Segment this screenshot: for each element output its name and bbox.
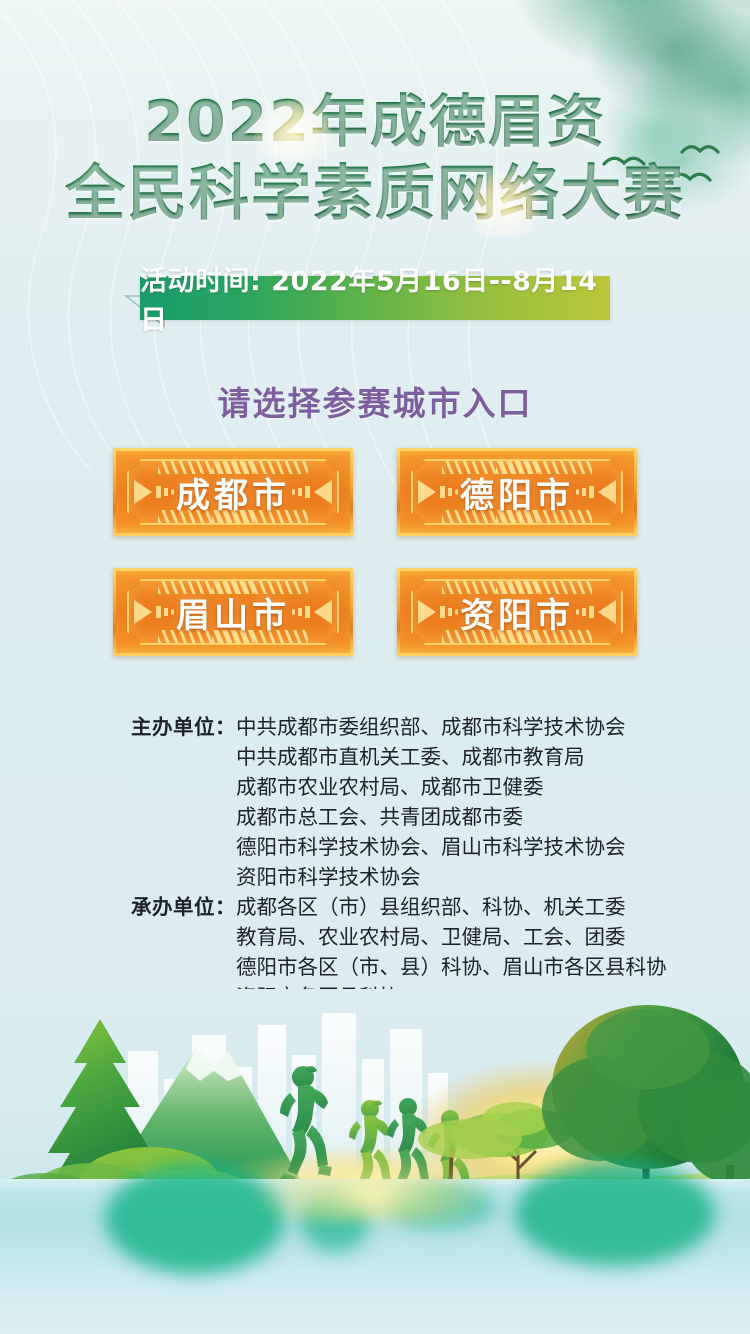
city-button-ziyang[interactable]: 资阳市 — [397, 568, 637, 656]
title-line-2: 全民科学素质网络大赛 — [0, 160, 750, 228]
poster-root: 2022年成德眉资 全民科学素质网络大赛 活动时间: 2022年5月16日--8… — [0, 0, 750, 1334]
city-entry-button-grid: 成都市 德阳市 — [113, 448, 637, 656]
credit-lines: 中共成都市委组织部、成都市科学技术协会 中共成都市直机关工委、成都市教育局 成都… — [236, 712, 671, 892]
credit-line: 成都市农业农村局、成都市卫健委 — [236, 772, 671, 802]
credit-line: 教育局、农业农村局、卫健局、工会、团委 — [236, 922, 671, 952]
event-date-banner: 活动时间: 2022年5月16日--8月14日 — [140, 276, 610, 320]
credit-line: 中共成都市委组织部、成都市科学技术协会 — [236, 712, 671, 742]
water-reflection-broadtree — [515, 1161, 715, 1266]
credit-line: 德阳市各区（市、县）科协、眉山市各区县科协 — [236, 952, 671, 982]
city-button-label: 眉山市 — [116, 571, 350, 653]
credit-line: 资阳市科学技术协会 — [236, 862, 671, 892]
city-button-deyang[interactable]: 德阳市 — [397, 448, 637, 536]
credit-line: 德阳市科学技术协会、眉山市科学技术协会 — [236, 832, 671, 862]
date-banner-row: 活动时间: 2022年5月16日--8月14日 — [0, 272, 750, 328]
city-button-label: 成都市 — [116, 451, 350, 533]
credit-line: 成都市总工会、共青团成都市委 — [236, 802, 671, 832]
event-date-text: 活动时间: 2022年5月16日--8月14日 — [140, 259, 610, 337]
credit-label: 承办单位： — [131, 892, 236, 922]
title-line-1: 2022年成德眉资 — [0, 88, 750, 156]
city-select-prompt: 请选择参赛城市入口 — [0, 377, 750, 425]
bottom-landscape-illustration — [0, 989, 750, 1334]
water-sun-reflection — [255, 1152, 485, 1222]
poster-title: 2022年成德眉资 全民科学素质网络大赛 — [0, 88, 750, 228]
credit-line: 成都各区（市）县组织部、科协、机关工委 — [236, 892, 671, 922]
credit-label: 主办单位： — [131, 712, 236, 742]
city-button-meishan[interactable]: 眉山市 — [113, 568, 353, 656]
credit-group-organizers: 主办单位： 中共成都市委组织部、成都市科学技术协会 中共成都市直机关工委、成都市… — [131, 712, 671, 892]
city-button-label: 资阳市 — [400, 571, 634, 653]
city-button-label: 德阳市 — [400, 451, 634, 533]
credit-line: 中共成都市直机关工委、成都市教育局 — [236, 742, 671, 772]
city-button-chengdu[interactable]: 成都市 — [113, 448, 353, 536]
